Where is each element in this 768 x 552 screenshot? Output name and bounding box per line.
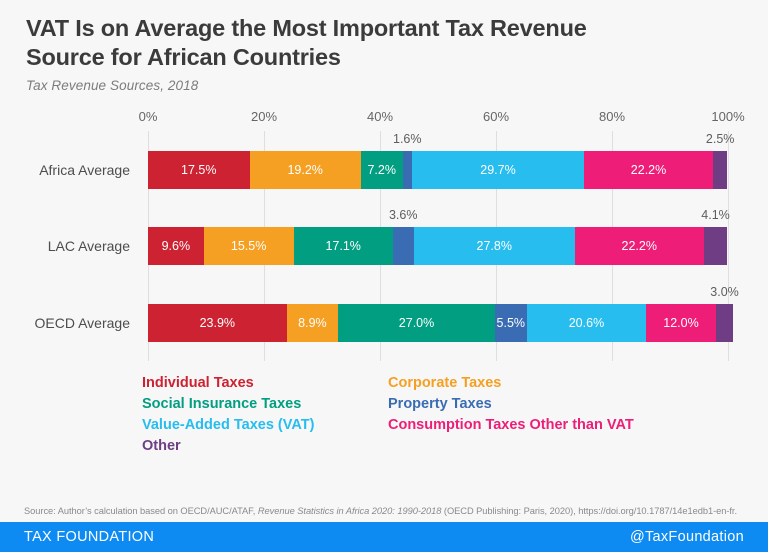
bar-segment-corporate-taxes[interactable]: 8.9% [287,304,339,342]
source-note: Source: Author’s calculation based on OE… [24,506,758,516]
segment-value-label: 23.9% [200,316,235,330]
bar-segment-other[interactable] [716,304,733,342]
bar-segment-individual-taxes[interactable]: 17.5% [148,151,250,189]
chart-subtitle: Tax Revenue Sources, 2018 [26,78,742,93]
bar-segment-corporate-taxes[interactable]: 19.2% [250,151,361,189]
segment-value-label: 17.1% [325,239,360,253]
legend-item-value-added-taxes-vat[interactable]: Value-Added Taxes (VAT) [142,415,314,436]
segment-value-label: 12.0% [663,316,698,330]
legend-item-property-taxes[interactable]: Property Taxes [388,394,634,415]
bar-segment-other[interactable] [713,151,728,189]
bar-segment-consumption-taxes-other-than-vat[interactable]: 12.0% [646,304,716,342]
bar-segment-corporate-taxes[interactable]: 15.5% [204,227,294,265]
chart-header: VAT Is on Average the Most Important Tax… [0,0,768,93]
footer-bar: TAX FOUNDATION @TaxFoundation [0,522,768,552]
x-tick-label: 60% [483,109,509,124]
stacked-bar: 23.9%8.9%27.0%5.5%20.6%12.0% [148,304,728,342]
legend-item-individual-taxes[interactable]: Individual Taxes [142,373,314,394]
segment-value-label: 15.5% [231,239,266,253]
category-label-africa-average: Africa Average [39,162,130,178]
segment-value-label: 22.2% [622,239,657,253]
segment-value-label: 19.2% [287,163,322,177]
chart-area: 0%20%40%60%80%100% Africa AverageLAC Ave… [0,101,768,369]
bar-segment-consumption-taxes-other-than-vat[interactable]: 22.2% [575,227,704,265]
plot-region: 1.6%2.5%17.5%19.2%7.2%29.7%22.2%3.6%4.1%… [148,131,728,361]
footer-brand: TAX FOUNDATION [24,529,154,545]
x-tick-label: 0% [139,109,158,124]
segment-value-label: 17.5% [181,163,216,177]
bar-segment-other[interactable] [704,227,728,265]
segment-value-label: 8.9% [298,316,327,330]
bar-segment-property-taxes[interactable] [393,227,414,265]
x-tick-label: 80% [599,109,625,124]
stacked-bar: 9.6%15.5%17.1%27.8%22.2% [148,227,728,265]
segment-value-label-outside: 4.1% [701,208,730,222]
bar-segment-individual-taxes[interactable]: 23.9% [148,304,287,342]
category-axis-labels: Africa AverageLAC AverageOECD Average [0,131,140,361]
footer-handle[interactable]: @TaxFoundation [630,529,744,545]
bar-segment-social-insurance-taxes[interactable]: 27.0% [338,304,495,342]
chart-page: VAT Is on Average the Most Important Tax… [0,0,768,552]
page-title: VAT Is on Average the Most Important Tax… [26,14,666,71]
bar-segment-value-added-taxes-vat[interactable]: 20.6% [527,304,646,342]
chart-legend: Individual TaxesSocial Insurance TaxesVa… [0,373,768,465]
category-label-lac-average: LAC Average [48,238,130,254]
legend-column-1: Individual TaxesSocial Insurance TaxesVa… [142,373,314,457]
legend-column-2: Corporate TaxesProperty TaxesConsumption… [388,373,634,436]
bar-segment-individual-taxes[interactable]: 9.6% [148,227,204,265]
legend-item-other[interactable]: Other [142,436,314,457]
bar-segment-social-insurance-taxes[interactable]: 7.2% [361,151,403,189]
legend-item-consumption-taxes-other-than-vat[interactable]: Consumption Taxes Other than VAT [388,415,634,436]
segment-value-label: 7.2% [367,163,396,177]
bar-segment-social-insurance-taxes[interactable]: 17.1% [294,227,393,265]
segment-value-label: 9.6% [162,239,191,253]
source-title: Revenue Statistics in Africa 2020: 1990-… [258,506,442,516]
segment-value-label: 22.2% [631,163,666,177]
x-tick-label: 40% [367,109,393,124]
legend-item-corporate-taxes[interactable]: Corporate Taxes [388,373,634,394]
source-suffix: (OECD Publishing: Paris, 2020), https://… [441,506,737,516]
stacked-bar: 17.5%19.2%7.2%29.7%22.2% [148,151,728,189]
segment-value-label: 20.6% [569,316,604,330]
source-prefix: Source: Author’s calculation based on OE… [24,506,258,516]
x-tick-label: 20% [251,109,277,124]
legend-item-social-insurance-taxes[interactable]: Social Insurance Taxes [142,394,314,415]
bar-segment-consumption-taxes-other-than-vat[interactable]: 22.2% [584,151,713,189]
bar-segment-property-taxes[interactable]: 5.5% [495,304,527,342]
segment-value-label-outside: 3.0% [710,285,739,299]
segment-value-label: 29.7% [480,163,515,177]
bar-segment-value-added-taxes-vat[interactable]: 29.7% [412,151,584,189]
segment-value-label-outside: 2.5% [706,132,735,146]
bar-segment-value-added-taxes-vat[interactable]: 27.8% [414,227,575,265]
segment-value-label: 27.0% [399,316,434,330]
segment-value-label-outside: 3.6% [389,208,418,222]
x-axis-ticks: 0%20%40%60%80%100% [148,109,768,129]
category-label-oecd-average: OECD Average [35,315,130,331]
segment-value-label: 27.8% [477,239,512,253]
bar-segment-property-taxes[interactable] [403,151,412,189]
segment-value-label: 5.5% [497,316,526,330]
x-tick-label: 100% [711,109,744,124]
segment-value-label-outside: 1.6% [393,132,422,146]
